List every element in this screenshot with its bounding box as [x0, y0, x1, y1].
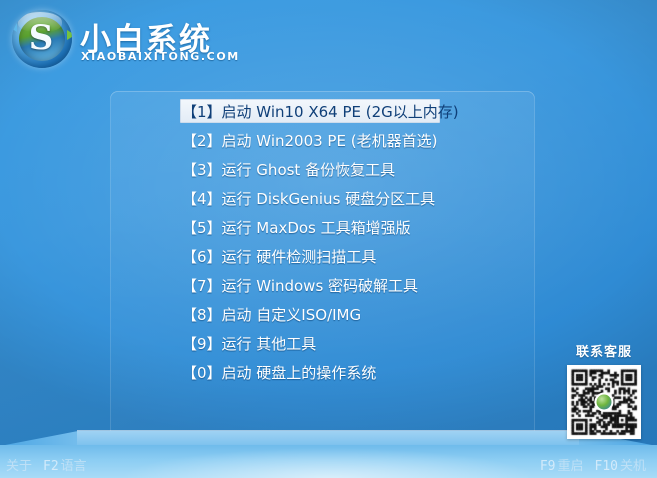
contact-support-block: 联系客服	[558, 341, 650, 439]
qr-code-icon	[567, 365, 641, 439]
menu-item-3[interactable]: 【3】运行 Ghost 备份恢复工具	[110, 156, 535, 185]
menu-item-4[interactable]: 【4】运行 DiskGenius 硬盘分区工具	[110, 185, 535, 214]
status-key-f9[interactable]: F9	[540, 459, 556, 474]
menu-item-2[interactable]: 【2】启动 Win2003 PE (老机器首选)	[110, 127, 535, 156]
menu-item-label: 【9】运行 其他工具	[182, 335, 316, 353]
menu-item-1[interactable]: 【1】启动 Win10 X64 PE (2G以上内存)	[110, 98, 535, 127]
menu-item-label: 【7】运行 Windows 密码破解工具	[182, 277, 418, 295]
status-word-restart[interactable]: 重启	[557, 459, 583, 474]
menu-item-6[interactable]: 【6】运行 硬件检测扫描工具	[110, 243, 535, 272]
menu-item-8[interactable]: 【8】启动 自定义ISO/IMG	[110, 301, 535, 330]
status-bar-left[interactable]: 关于F2语言	[2, 455, 96, 474]
brand-logo-icon	[595, 393, 614, 412]
brand-logo: S 小白系统 XIAOBAIXITONG.COM	[8, 6, 218, 72]
boot-menu-list[interactable]: 【1】启动 Win10 X64 PE (2G以上内存) 【2】启动 Win200…	[110, 98, 535, 388]
menu-item-label: 【1】启动 Win10 X64 PE (2G以上内存)	[182, 103, 459, 121]
menu-item-label: 【8】启动 自定义ISO/IMG	[182, 306, 361, 324]
status-word-about[interactable]: 关于	[6, 459, 32, 474]
contact-support-label: 联系客服	[558, 341, 650, 360]
status-word-shutdown[interactable]: 关机	[620, 459, 646, 474]
boot-menu-screen: S 小白系统 XIAOBAIXITONG.COM 【1】启动 Win10 X64…	[0, 0, 657, 478]
status-bar-right[interactable]: F9重启F10关机	[538, 455, 655, 474]
menu-item-0[interactable]: 【0】启动 硬盘上的操作系统	[110, 359, 535, 388]
menu-item-label: 【2】启动 Win2003 PE (老机器首选)	[182, 132, 437, 150]
status-word-language[interactable]: 语言	[61, 459, 87, 474]
status-key-f2[interactable]: F2	[43, 459, 59, 474]
brand-subtitle: XIAOBAIXITONG.COM	[81, 50, 240, 63]
recycle-swirl-logo-icon: S	[12, 10, 72, 68]
menu-item-label: 【6】运行 硬件检测扫描工具	[182, 248, 376, 266]
menu-item-label: 【0】启动 硬盘上的操作系统	[182, 364, 376, 382]
menu-item-label: 【5】运行 MaxDos 工具箱增强版	[182, 219, 411, 237]
menu-item-label: 【4】运行 DiskGenius 硬盘分区工具	[182, 190, 435, 208]
menu-item-9[interactable]: 【9】运行 其他工具	[110, 330, 535, 359]
status-key-f10[interactable]: F10	[595, 459, 618, 474]
menu-item-7[interactable]: 【7】运行 Windows 密码破解工具	[110, 272, 535, 301]
menu-item-5[interactable]: 【5】运行 MaxDos 工具箱增强版	[110, 214, 535, 243]
menu-item-label: 【3】运行 Ghost 备份恢复工具	[182, 161, 395, 179]
